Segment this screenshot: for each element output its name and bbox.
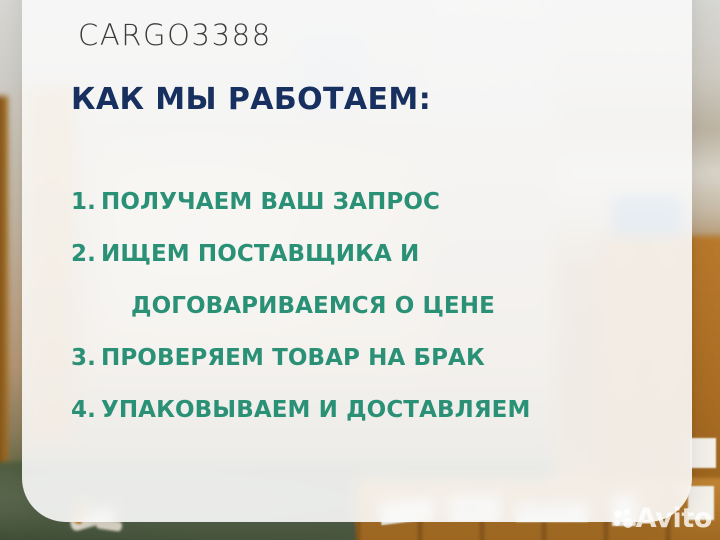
- step-number: 1.: [71, 176, 101, 228]
- step-text: УПАКОВЫВАЕМ И ДОСТАВЛЯЕМ: [101, 384, 661, 436]
- list-item: 4. УПАКОВЫВАЕМ И ДОСТАВЛЯЕМ: [71, 384, 661, 436]
- warehouse-left-shadow: [0, 96, 8, 466]
- avito-watermark: Avito: [614, 505, 712, 532]
- box-label: [690, 438, 716, 468]
- step-line-wrapped: ДОГОВАРИВАЕМСЯ О ЦЕНЕ: [101, 280, 661, 332]
- step-line: ИЩЕМ ПОСТАВЩИКА И: [101, 241, 419, 267]
- page-title: КАК МЫ РАБОТАЕМ:: [71, 82, 431, 117]
- step-text: ПОЛУЧАЕМ ВАШ ЗАПРОС: [101, 176, 661, 228]
- steps-list: 1. ПОЛУЧАЕМ ВАШ ЗАПРОС 2. ИЩЕМ ПОСТАВЩИК…: [71, 176, 661, 436]
- screenshot-root: TSUKUBA-290 TSUKUBA-2 CARGO3388 КАК МЫ Р…: [0, 0, 720, 540]
- brand-logo: CARGO3388: [78, 18, 272, 52]
- list-item: 2. ИЩЕМ ПОСТАВЩИКА И ДОГОВАРИВАЕМСЯ О ЦЕ…: [71, 228, 661, 332]
- list-item: 1. ПОЛУЧАЕМ ВАШ ЗАПРОС: [71, 176, 661, 228]
- step-line: УПАКОВЫВАЕМ И ДОСТАВЛЯЕМ: [101, 397, 530, 423]
- list-item: 3. ПРОВЕРЯЕМ ТОВАР НА БРАК: [71, 332, 661, 384]
- avito-wordmark: Avito: [636, 505, 712, 532]
- step-text: ИЩЕМ ПОСТАВЩИКА И ДОГОВАРИВАЕМСЯ О ЦЕНЕ: [101, 228, 661, 332]
- step-number: 3.: [71, 332, 101, 384]
- step-line: ПРОВЕРЯЕМ ТОВАР НА БРАК: [101, 345, 485, 371]
- avito-dots-icon: [614, 509, 633, 529]
- step-text: ПРОВЕРЯЕМ ТОВАР НА БРАК: [101, 332, 661, 384]
- step-line: ПОЛУЧАЕМ ВАШ ЗАПРОС: [101, 189, 440, 215]
- step-number: 2.: [71, 228, 101, 280]
- step-number: 4.: [71, 384, 101, 436]
